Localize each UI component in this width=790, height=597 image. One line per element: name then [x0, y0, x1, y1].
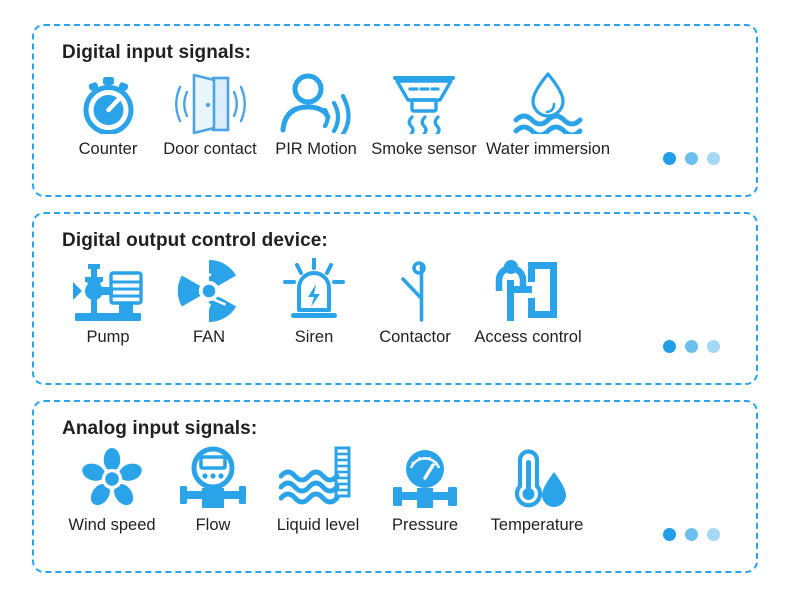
item-liquid-level[interactable]: Liquid level [262, 444, 374, 534]
panel-digital-input: Digital input signals: Counter [32, 24, 758, 197]
item-door-contact[interactable]: Door contact [156, 68, 264, 158]
item-label: Pressure [392, 516, 458, 534]
item-label: Temperature [491, 516, 584, 534]
icon-box [80, 68, 136, 134]
icon-box [388, 68, 460, 134]
item-flow[interactable]: Flow [164, 444, 262, 534]
item-pressure[interactable]: Pressure [374, 444, 476, 534]
item-contactor[interactable]: Contactor [366, 256, 464, 346]
flow-meter-icon [178, 446, 248, 510]
item-label: Counter [79, 140, 138, 158]
icon-box [178, 444, 248, 510]
fan-icon [177, 260, 241, 322]
item-access-control[interactable]: Access control [464, 256, 592, 346]
dot-icon [707, 340, 720, 353]
item-label: Water immersion [486, 140, 610, 158]
pump-icon [71, 260, 145, 322]
dot-icon [663, 528, 676, 541]
item-label: Liquid level [277, 516, 360, 534]
item-label: Pump [86, 328, 129, 346]
icon-box [279, 444, 357, 510]
dot-icon [685, 528, 698, 541]
icon-box [389, 444, 461, 510]
panel-title: Analog input signals: [62, 418, 738, 440]
panel-title: Digital input signals: [62, 42, 738, 64]
item-pir-motion[interactable]: PIR Motion [264, 68, 368, 158]
dot-icon [685, 340, 698, 353]
item-wind-speed[interactable]: Wind speed [60, 444, 164, 534]
icon-box [510, 68, 586, 134]
item-label: PIR Motion [275, 140, 357, 158]
item-label: Door contact [163, 140, 257, 158]
door-contact-icon [168, 74, 252, 134]
more-items-indicator [663, 528, 720, 541]
item-label: Contactor [379, 328, 451, 346]
item-temperature[interactable]: Temperature [476, 444, 598, 534]
item-siren[interactable]: Siren [262, 256, 366, 346]
liquid-level-icon [279, 446, 357, 510]
icon-box [495, 256, 561, 322]
item-label: Wind speed [68, 516, 155, 534]
icon-box [177, 256, 241, 322]
panel-title: Digital output control device: [62, 230, 738, 252]
stopwatch-icon [80, 76, 136, 134]
thermometer-icon [506, 446, 568, 510]
icon-box [71, 256, 145, 322]
access-control-icon [495, 258, 561, 322]
dot-icon [707, 528, 720, 541]
smoke-sensor-icon [388, 72, 460, 134]
item-label: FAN [193, 328, 225, 346]
dot-icon [707, 152, 720, 165]
panel-items-row: Pump [56, 256, 738, 346]
item-counter[interactable]: Counter [60, 68, 156, 158]
dot-icon [663, 152, 676, 165]
item-label: Flow [196, 516, 231, 534]
panel-items-row: Counter Door contact [56, 68, 738, 158]
item-label: Access control [474, 328, 581, 346]
panel-items-row: Wind speed [56, 444, 738, 534]
item-label: Siren [295, 328, 334, 346]
panel-analog-input: Analog input signals: [32, 400, 758, 573]
more-items-indicator [663, 340, 720, 353]
panel-digital-output: Digital output control device: [32, 212, 758, 385]
more-items-indicator [663, 152, 720, 165]
pir-motion-icon [278, 72, 354, 134]
icon-box [80, 444, 144, 510]
icon-box [280, 256, 348, 322]
contactor-icon [395, 258, 435, 322]
dot-icon [685, 152, 698, 165]
icon-box [168, 68, 252, 134]
icon-box [278, 68, 354, 134]
water-immersion-icon [510, 72, 586, 134]
item-water-immersion[interactable]: Water immersion [480, 68, 616, 158]
signal-device-overview: Digital input signals: Counter [0, 0, 790, 597]
item-fan[interactable]: FAN [156, 256, 262, 346]
icon-box [395, 256, 435, 322]
dot-icon [663, 340, 676, 353]
item-label: Smoke sensor [371, 140, 476, 158]
item-smoke-sensor[interactable]: Smoke sensor [368, 68, 480, 158]
wind-speed-icon [80, 448, 144, 510]
pressure-gauge-icon [389, 448, 461, 510]
siren-icon [280, 258, 348, 322]
icon-box [506, 444, 568, 510]
item-pump[interactable]: Pump [60, 256, 156, 346]
